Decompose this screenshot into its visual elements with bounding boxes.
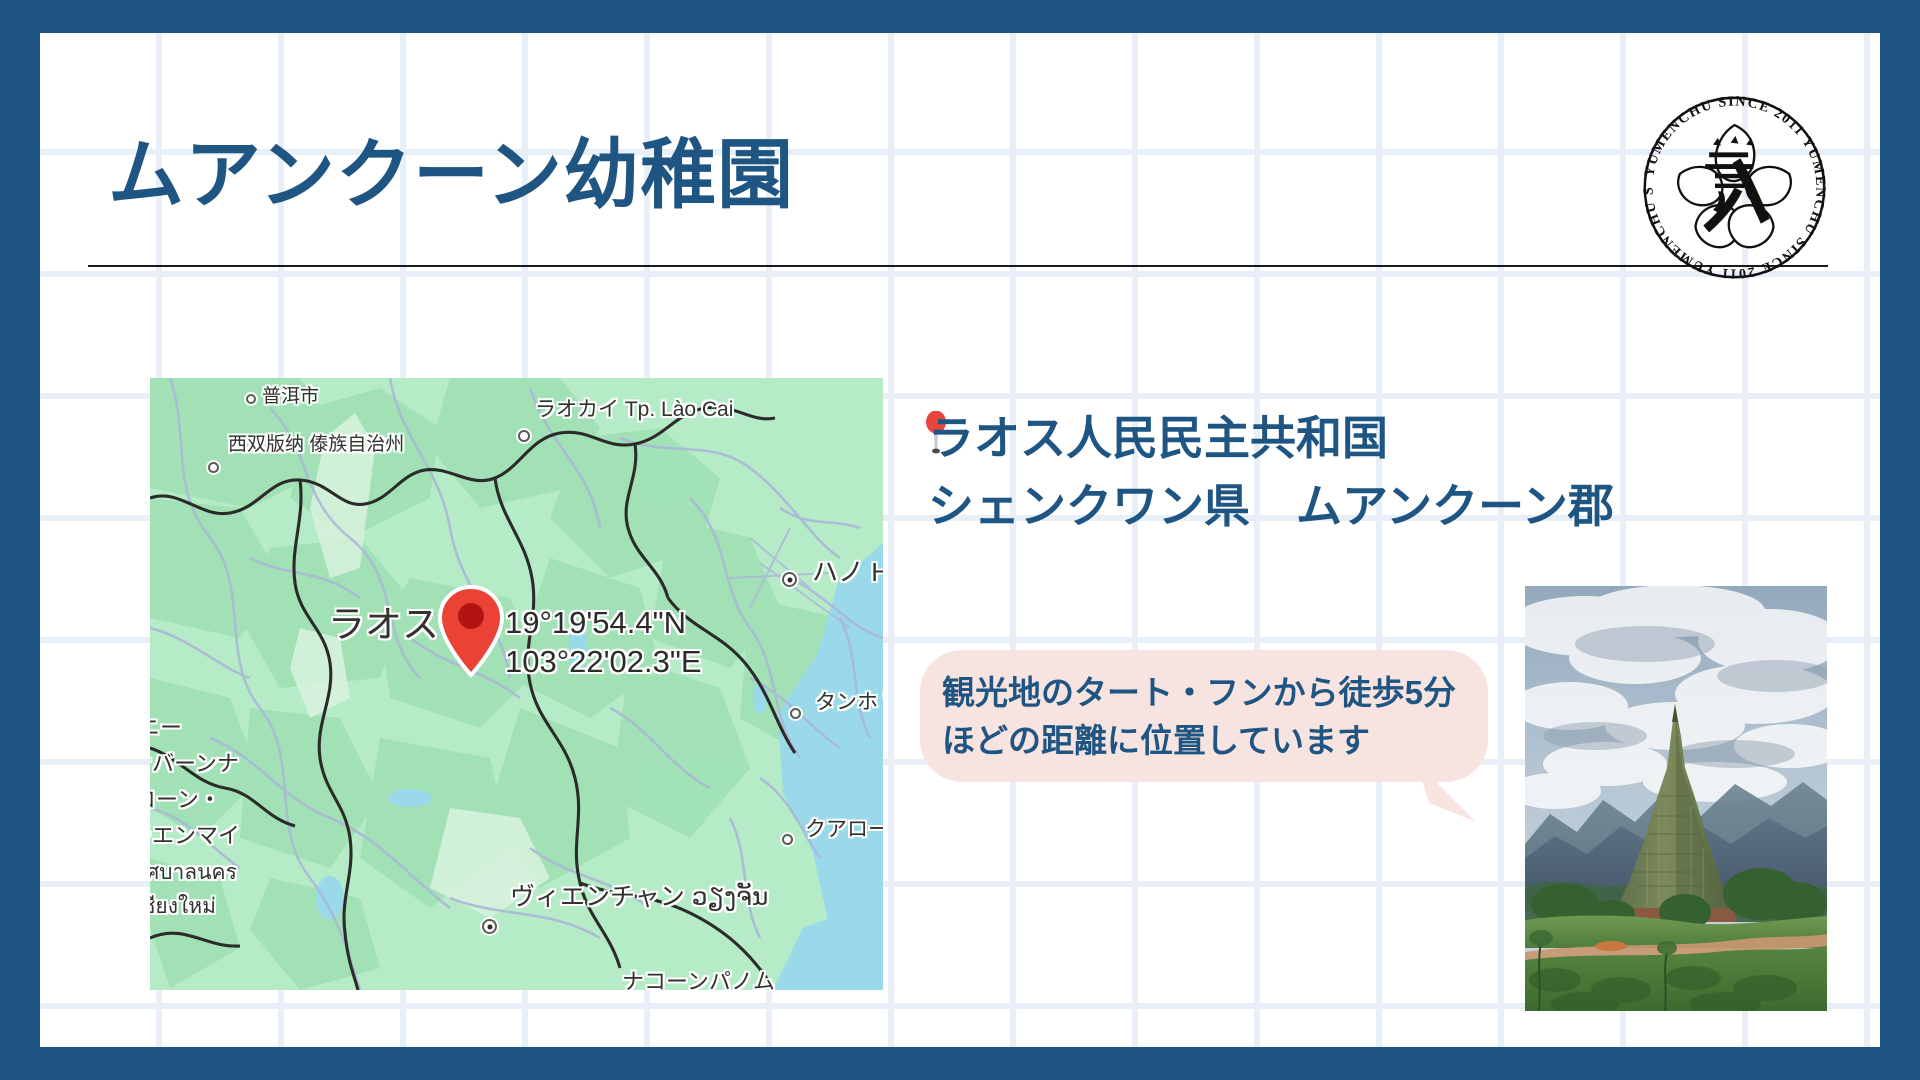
map-dot-vinh xyxy=(782,834,793,845)
slide-page: ムアンクーン幼稚園 YUMENCHU SINCE 2011 YUMENCHU S… xyxy=(40,33,1880,1047)
speech-bubble-text: 観光地のタート・フンから徒歩5分 ほどの距離に位置しています xyxy=(942,669,1482,764)
map-dot-vientiane xyxy=(482,919,497,934)
address-text: ラオス人民民主共和国 シェンクワン県 ムアンクーン郡 xyxy=(928,405,1614,540)
map-dot-thanh-hoa xyxy=(790,708,801,719)
map-dot-puer xyxy=(246,394,256,404)
stupa-photo xyxy=(1525,586,1827,1011)
map-pin-icon xyxy=(434,583,508,679)
yumenchu-seal-logo: YUMENCHU SINCE 2011 YUMENCHU SINCE 2011 … xyxy=(1637,90,1832,285)
map-dot-xishuangbanna xyxy=(208,462,219,473)
slide-root: ムアンクーン幼稚園 YUMENCHU SINCE 2011 YUMENCHU S… xyxy=(0,0,1920,1080)
title-divider xyxy=(88,265,1828,267)
page-title: ムアンクーン幼稚園 xyxy=(108,138,794,214)
map-dot-hanoi xyxy=(782,572,797,587)
map-dot-lao-cai xyxy=(518,430,530,442)
speech-bubble-tail xyxy=(1417,763,1477,823)
map-coordinates: 19°19'54.4"N 103°22'02.3"E xyxy=(505,604,702,682)
location-map[interactable]: 普洱市 西双版纳 傣族自治州 ラオカイ Tp. Lào Cai ハノ Hà N … xyxy=(150,378,883,990)
